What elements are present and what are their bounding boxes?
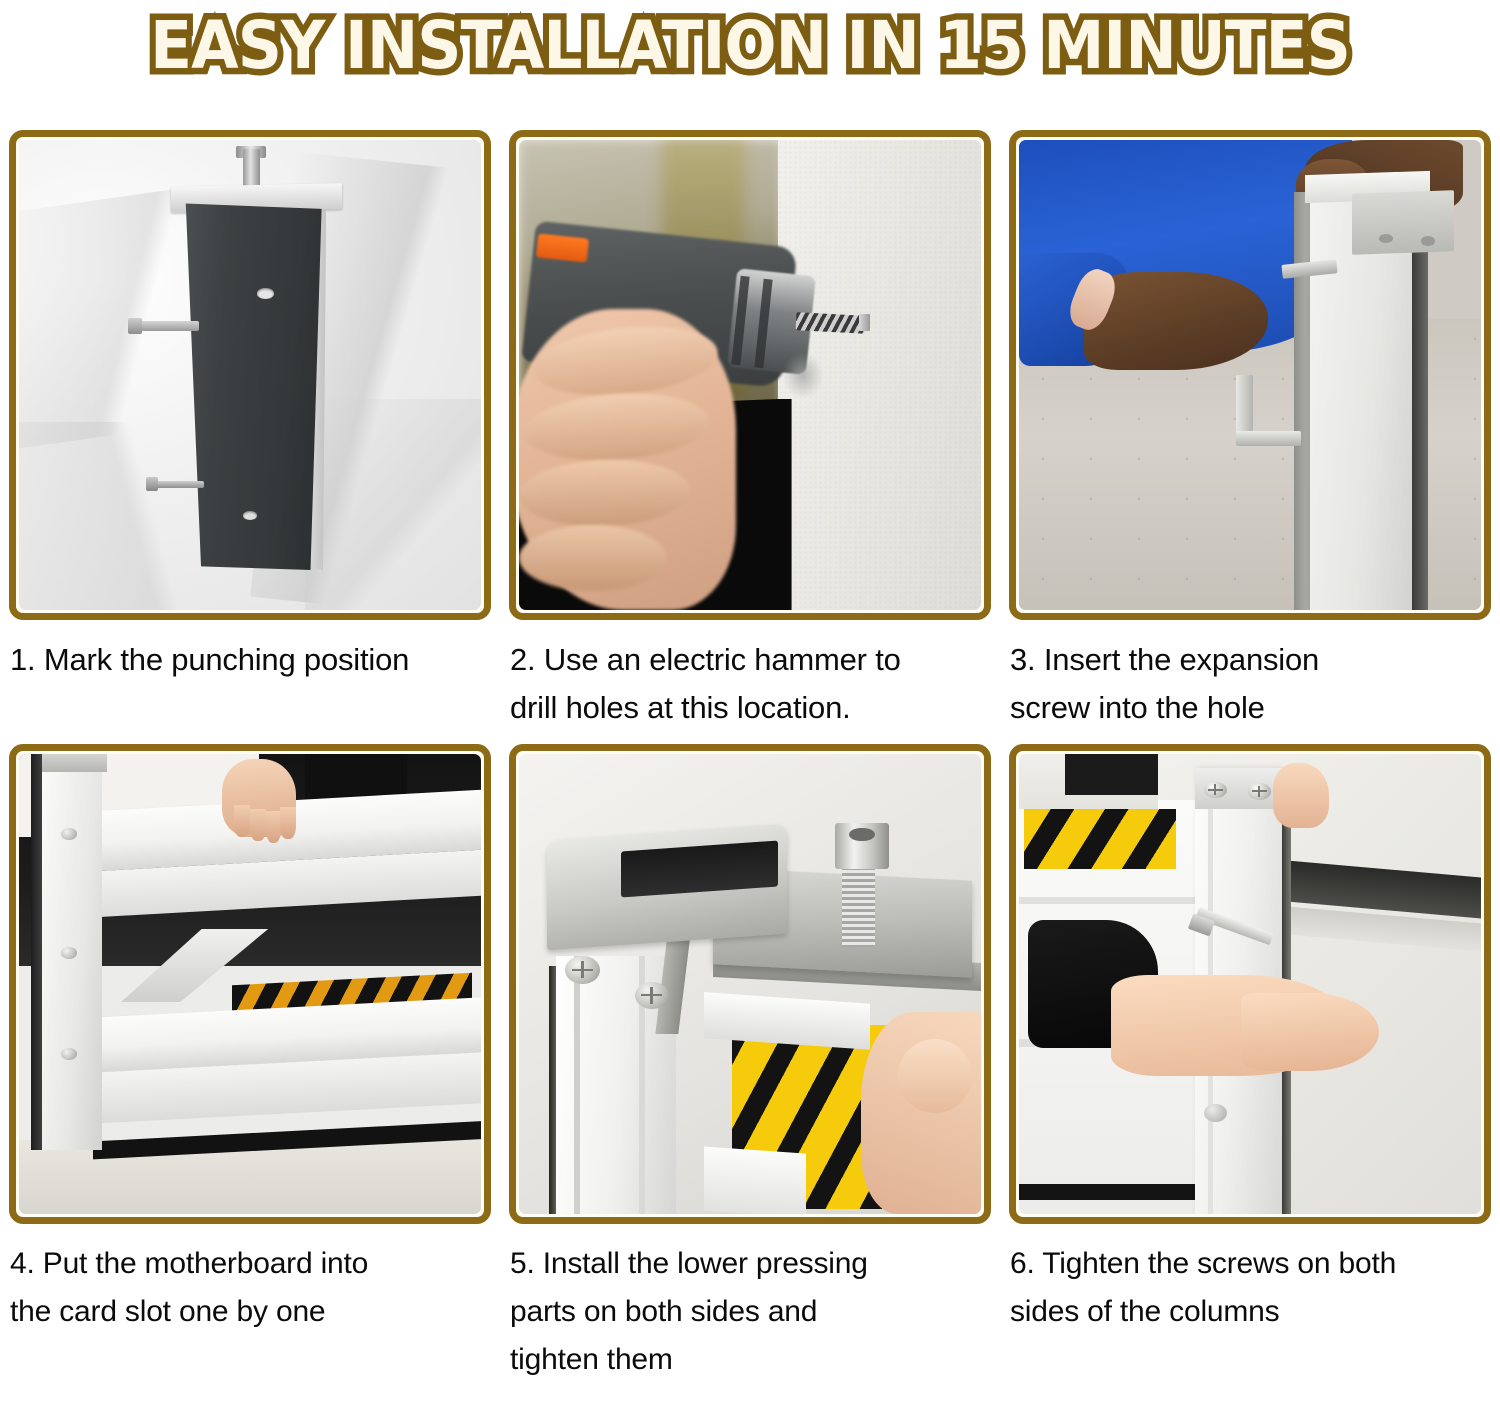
- mounting-plate-icon: [1352, 190, 1454, 255]
- step-1-photo: [19, 140, 481, 610]
- step-card-4: 4. Put the motherboard into the card slo…: [0, 744, 500, 1384]
- column-cap-icon: [42, 754, 107, 772]
- panel-dark-top-icon: [1065, 754, 1157, 795]
- thumb-bolt-thread-icon: [842, 864, 874, 947]
- step-card-1: 1. Mark the punching position: [0, 130, 500, 732]
- finger-icon: [280, 807, 296, 839]
- cloth-fold-icon: [305, 399, 481, 611]
- step-5-caption: 5. Install the lower pressing parts on b…: [510, 1240, 990, 1384]
- page-title-bar: EASY INSTALLATION IN 15 MINUTES: [0, 0, 1500, 92]
- phillips-screw-icon: [565, 956, 600, 984]
- hazard-stripe-icon: [1024, 809, 1176, 869]
- upper-marking-pin-tip-icon: [128, 318, 143, 334]
- step-2-caption: 2. Use an electric hammer to drill holes…: [510, 636, 990, 732]
- finger-icon: [519, 525, 667, 591]
- finger-icon: [266, 811, 282, 843]
- caption-line: drill holes at this location.: [510, 684, 990, 732]
- step-3-photo: [1019, 140, 1481, 610]
- caption-line: sides of the columns: [1010, 1288, 1490, 1336]
- page-title: EASY INSTALLATION IN 15 MINUTES: [150, 10, 1350, 82]
- step-2-photo: [519, 140, 981, 610]
- step-1-caption: 1. Mark the punching position: [10, 636, 490, 684]
- step-4-caption: 4. Put the motherboard into the card slo…: [10, 1240, 490, 1336]
- step-card-3: 3. Insert the expansion screw into the h…: [1000, 130, 1500, 732]
- step-4-image-frame: [9, 744, 491, 1224]
- thumb-bolt-socket-icon: [849, 828, 874, 842]
- hex-key-short-arm-icon: [1236, 431, 1301, 446]
- caption-line: 4. Put the motherboard into: [10, 1240, 490, 1288]
- caption-line: 1. Mark the punching position: [10, 636, 490, 684]
- step-6-caption: 6. Tighten the screws on both sides of t…: [1010, 1240, 1490, 1336]
- upper-hand-icon: [1273, 763, 1328, 827]
- panel-groove-icon: [1019, 897, 1195, 904]
- drill-bit-tip-icon: [859, 314, 871, 331]
- column-screw-icon: [61, 828, 78, 840]
- caption-line: 5. Install the lower pressing: [510, 1240, 990, 1288]
- barrier-board-icon: [704, 1146, 806, 1214]
- steps-grid: 1. Mark the punching position: [0, 130, 1500, 1384]
- step-5-image-frame: [509, 744, 991, 1224]
- caption-line: 6. Tighten the screws on both: [1010, 1240, 1490, 1288]
- caption-line: parts on both sides and: [510, 1288, 990, 1336]
- caption-line: tighten them: [510, 1336, 990, 1384]
- caption-line: 2. Use an electric hammer to: [510, 636, 990, 684]
- step-card-5: 5. Install the lower pressing parts on b…: [500, 744, 1000, 1384]
- upper-mounting-hole-icon: [257, 288, 275, 299]
- caption-line: screw into the hole: [1010, 684, 1490, 732]
- step-5-photo: [519, 754, 981, 1214]
- steps-row-2: 4. Put the motherboard into the card slo…: [0, 744, 1500, 1384]
- top-bolt-shaft-icon: [243, 149, 260, 187]
- step-4-photo: [19, 754, 481, 1214]
- phillips-screw-icon: [1204, 782, 1227, 799]
- step-1-image-frame: [9, 130, 491, 620]
- bottom-seal-strip-icon: [1019, 1184, 1195, 1200]
- column-groove-icon: [574, 956, 580, 1214]
- phillips-screw-icon: [1248, 783, 1271, 800]
- finger-icon: [250, 809, 266, 841]
- step-3-image-frame: [1009, 130, 1491, 620]
- caption-line: the card slot one by one: [10, 1288, 490, 1336]
- step-6-photo: [1019, 754, 1481, 1214]
- step-3-caption: 3. Insert the expansion screw into the h…: [1010, 636, 1490, 732]
- installation-guide-page: EASY INSTALLATION IN 15 MINUTES: [0, 0, 1500, 1403]
- drill-dust-icon: [782, 352, 824, 399]
- drill-bit-icon: [796, 312, 866, 333]
- lower-mounting-hole-icon: [243, 511, 257, 519]
- step-card-2: 2. Use an electric hammer to drill holes…: [500, 130, 1000, 732]
- step-card-6: 6. Tighten the screws on both sides of t…: [1000, 744, 1500, 1384]
- step-2-image-frame: [509, 130, 991, 620]
- caption-line: 3. Insert the expansion: [1010, 636, 1490, 684]
- finger-icon: [234, 805, 250, 837]
- step-6-image-frame: [1009, 744, 1491, 1224]
- lower-marking-pin-tip-icon: [146, 477, 158, 491]
- thumb-icon: [898, 1039, 972, 1113]
- expansion-screw-icon: [1421, 236, 1435, 245]
- fingers-icon: [1241, 993, 1380, 1071]
- lower-screw-icon: [1204, 1104, 1227, 1122]
- steps-row-1: 1. Mark the punching position: [0, 130, 1500, 732]
